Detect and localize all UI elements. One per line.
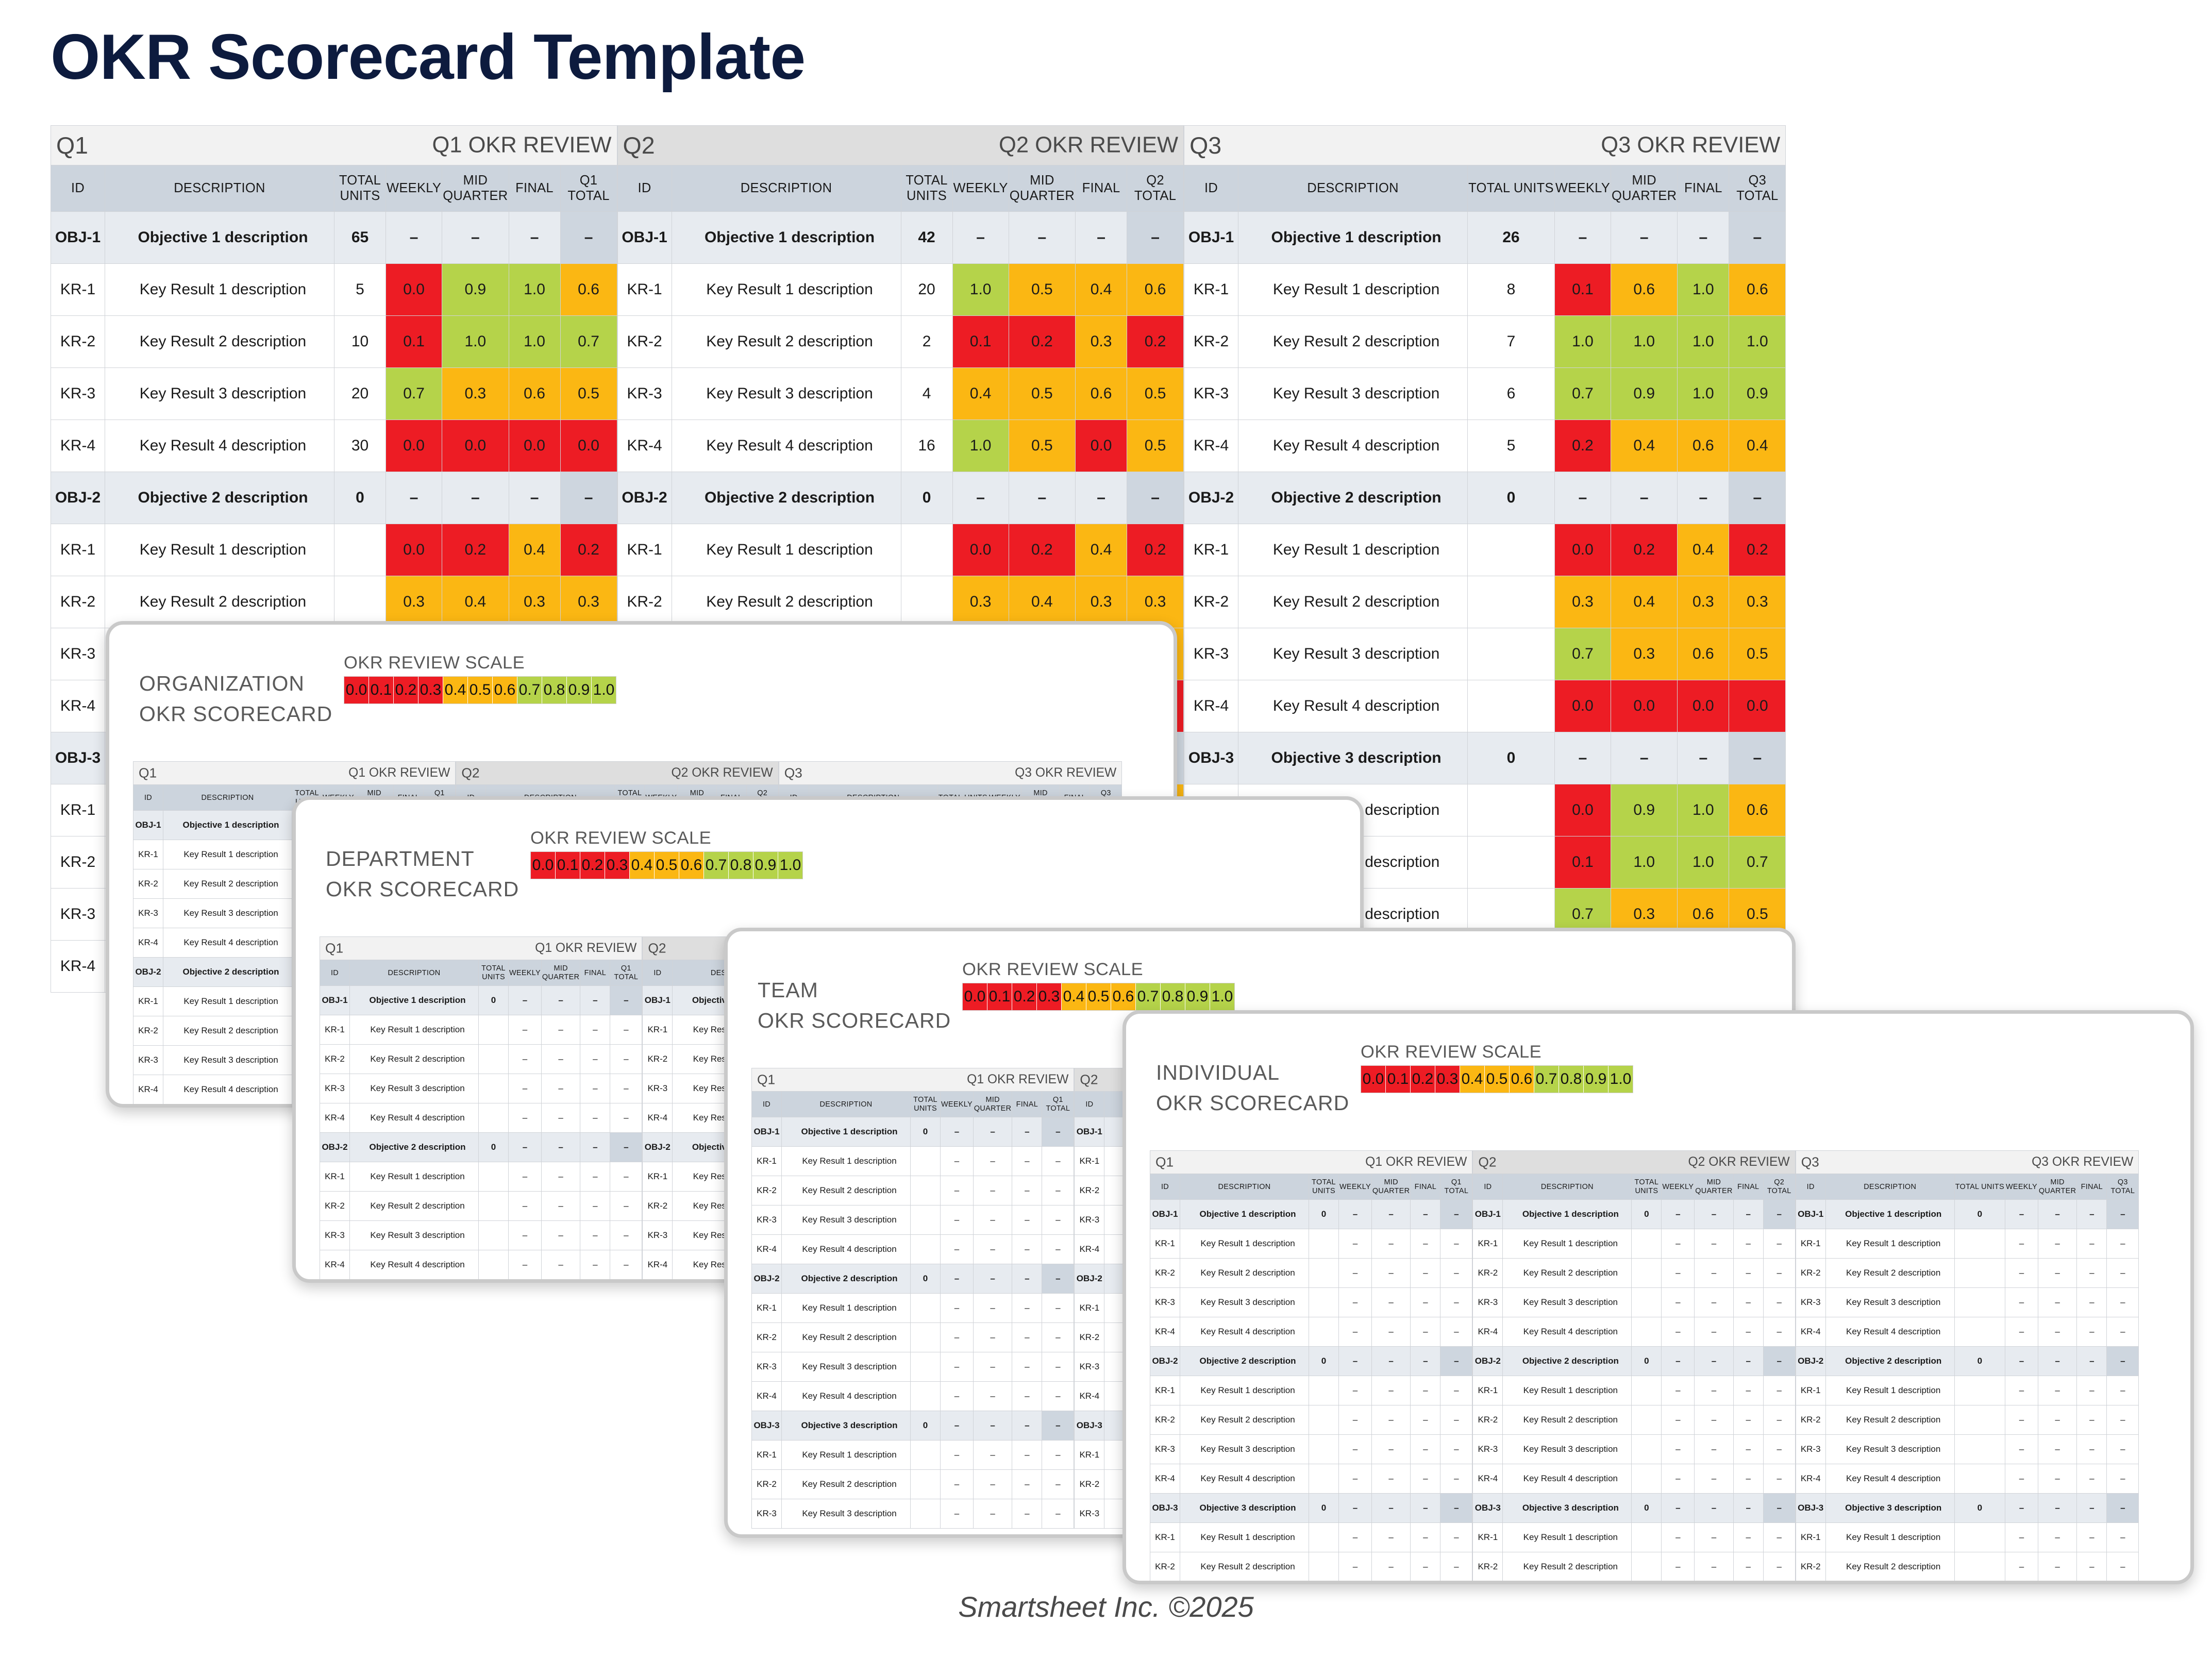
- key-result-row[interactable]: KR-2Key Result 2 description––––: [1473, 1405, 1795, 1435]
- row-mid-quarter-cell[interactable]: –: [973, 1323, 1012, 1352]
- row-weekly-cell[interactable]: –: [509, 1250, 542, 1280]
- row-weekly-cell[interactable]: 0.2: [1554, 420, 1611, 472]
- row-quarter-total-cell[interactable]: 0.2: [1127, 524, 1184, 576]
- row-quarter-total-cell[interactable]: –: [610, 1192, 642, 1221]
- row-weekly-cell[interactable]: –: [1662, 1552, 1695, 1582]
- row-description-cell[interactable]: Key Result 1 description: [1180, 1523, 1309, 1552]
- row-total-units-cell[interactable]: [1954, 1259, 2005, 1288]
- row-total-units-cell[interactable]: [1954, 1288, 2005, 1317]
- row-id-cell[interactable]: KR-2: [1473, 1405, 1503, 1435]
- row-id-cell[interactable]: KR-1: [1796, 1376, 1825, 1405]
- row-weekly-cell[interactable]: –: [1662, 1317, 1695, 1347]
- key-result-row[interactable]: KR-4Key Result 4 description––––: [1473, 1464, 1795, 1494]
- row-weekly-cell[interactable]: –: [2005, 1582, 2038, 1585]
- row-description-cell[interactable]: Key Result 4 description: [163, 928, 292, 958]
- row-mid-quarter-cell[interactable]: –: [541, 1250, 580, 1280]
- row-weekly-cell[interactable]: 0.1: [1554, 264, 1611, 316]
- row-id-cell[interactable]: KR-2: [1150, 1405, 1180, 1435]
- row-final-cell[interactable]: –: [1411, 1259, 1440, 1288]
- row-id-cell[interactable]: KR-1: [1075, 1294, 1104, 1323]
- row-mid-quarter-cell[interactable]: –: [973, 1294, 1012, 1323]
- row-mid-quarter-cell[interactable]: –: [1371, 1229, 1410, 1259]
- row-total-units-cell[interactable]: [1632, 1288, 1662, 1317]
- row-weekly-cell[interactable]: –: [509, 1074, 542, 1103]
- row-description-cell[interactable]: Key Result 1 description: [163, 987, 292, 1016]
- row-description-cell[interactable]: Key Result 3 description: [163, 899, 292, 928]
- key-result-row[interactable]: KR-2Key Result 2 description––––: [1473, 1552, 1795, 1582]
- row-final-cell[interactable]: –: [580, 1103, 610, 1133]
- row-description-cell[interactable]: Key Result 1 description: [105, 264, 334, 316]
- row-id-cell[interactable]: KR-3: [752, 1205, 782, 1235]
- row-id-cell[interactable]: KR-2: [617, 316, 672, 368]
- row-id-cell[interactable]: KR-4: [1075, 1382, 1104, 1411]
- row-id-cell[interactable]: KR-3: [1796, 1435, 1825, 1464]
- row-id-cell[interactable]: KR-3: [1184, 368, 1238, 420]
- row-weekly-cell[interactable]: –: [941, 1205, 974, 1235]
- key-result-row[interactable]: KR-1Key Result 1 description––––: [1150, 1523, 1472, 1552]
- row-id-cell[interactable]: KR-4: [752, 1382, 782, 1411]
- key-result-row[interactable]: KR-1Key Result 1 description––––: [1473, 1376, 1795, 1405]
- row-total-units-cell[interactable]: 10: [334, 316, 386, 368]
- row-mid-quarter-cell[interactable]: –: [2038, 1523, 2076, 1552]
- key-result-row[interactable]: KR-3Key Result 3 description––––: [1796, 1435, 2139, 1464]
- row-weekly-cell[interactable]: –: [2005, 1288, 2038, 1317]
- row-description-cell[interactable]: Key Result 1 description: [1180, 1376, 1309, 1405]
- row-final-cell[interactable]: –: [1411, 1552, 1440, 1582]
- row-final-cell[interactable]: –: [1733, 1464, 1763, 1494]
- row-description-cell[interactable]: Key Result 1 description: [672, 264, 901, 316]
- row-final-cell[interactable]: –: [1012, 1499, 1042, 1529]
- row-final-cell[interactable]: –: [1733, 1405, 1763, 1435]
- objective-row[interactable]: OBJ-3Objective 3 description0––––: [1473, 1494, 1795, 1523]
- row-description-cell[interactable]: Key Result 2 description: [1503, 1405, 1632, 1435]
- row-total-units-cell[interactable]: [1954, 1582, 2005, 1585]
- row-mid-quarter-cell[interactable]: 1.0: [1611, 316, 1678, 368]
- row-description-cell[interactable]: Key Result 3 description: [1503, 1288, 1632, 1317]
- row-id-cell[interactable]: KR-1: [617, 524, 672, 576]
- row-id-cell[interactable]: KR-4: [1184, 420, 1238, 472]
- row-quarter-total-cell[interactable]: –: [1042, 1382, 1074, 1411]
- row-id-cell[interactable]: KR-1: [1075, 1147, 1104, 1176]
- row-weekly-cell[interactable]: 0.1: [1554, 836, 1611, 889]
- row-total-units-cell[interactable]: [479, 1074, 509, 1103]
- row-description-cell[interactable]: Key Result 4 description: [105, 420, 334, 472]
- row-id-cell[interactable]: KR-2: [133, 869, 163, 899]
- row-quarter-total-cell[interactable]: 0.0: [560, 420, 617, 472]
- row-weekly-cell[interactable]: –: [1662, 1435, 1695, 1464]
- row-id-cell[interactable]: KR-4: [1150, 1317, 1180, 1347]
- row-weekly-cell[interactable]: –: [1662, 1376, 1695, 1405]
- row-weekly-cell[interactable]: –: [941, 1441, 974, 1470]
- row-id-cell[interactable]: KR-2: [1075, 1176, 1104, 1205]
- row-id-cell[interactable]: KR-4: [617, 420, 672, 472]
- row-description-cell[interactable]: Key Result 4 description: [1825, 1464, 1954, 1494]
- row-quarter-total-cell[interactable]: 0.6: [560, 264, 617, 316]
- key-result-row[interactable]: KR-2Key Result 2 description––––: [1150, 1405, 1472, 1435]
- row-id-cell[interactable]: KR-2: [1796, 1259, 1825, 1288]
- row-total-units-cell[interactable]: [1954, 1435, 2005, 1464]
- row-final-cell[interactable]: –: [2077, 1464, 2107, 1494]
- row-description-cell[interactable]: Key Result 4 description: [782, 1382, 911, 1411]
- row-final-cell[interactable]: 1.0: [1678, 784, 1729, 836]
- row-final-cell[interactable]: –: [1411, 1523, 1440, 1552]
- row-weekly-cell[interactable]: 1.0: [1554, 316, 1611, 368]
- row-description-cell[interactable]: Key Result 2 description: [350, 1192, 479, 1221]
- row-final-cell[interactable]: 0.6: [1678, 420, 1729, 472]
- row-quarter-total-cell[interactable]: –: [610, 1045, 642, 1074]
- row-description-cell[interactable]: Key Result 2 description: [163, 1016, 292, 1046]
- row-id-cell[interactable]: KR-4: [1473, 1464, 1503, 1494]
- key-result-row[interactable]: KR-4Key Result 4 description––––: [1473, 1317, 1795, 1347]
- key-result-row[interactable]: KR-2Key Result 2 description0.30.40.30.3: [1184, 576, 1786, 628]
- objective-row[interactable]: OBJ-2Objective 2 description0––––: [320, 1133, 642, 1162]
- row-mid-quarter-cell[interactable]: –: [1695, 1288, 1733, 1317]
- row-mid-quarter-cell[interactable]: –: [1371, 1552, 1410, 1582]
- row-final-cell[interactable]: 0.0: [1076, 420, 1127, 472]
- row-quarter-total-cell[interactable]: 0.4: [1729, 420, 1786, 472]
- row-total-units-cell[interactable]: [1309, 1523, 1339, 1552]
- row-quarter-total-cell[interactable]: –: [1440, 1552, 1472, 1582]
- row-mid-quarter-cell[interactable]: –: [973, 1470, 1012, 1499]
- key-result-row[interactable]: KR-2Key Result 2 description––––: [320, 1045, 642, 1074]
- row-final-cell[interactable]: –: [1411, 1317, 1440, 1347]
- row-id-cell[interactable]: KR-4: [51, 941, 105, 993]
- key-result-row[interactable]: KR-4Key Result 4 description––––: [1796, 1464, 2139, 1494]
- row-quarter-total-cell[interactable]: –: [1763, 1259, 1795, 1288]
- key-result-row[interactable]: KR-2Key Result 2 description––––: [752, 1176, 1074, 1205]
- row-final-cell[interactable]: –: [580, 1192, 610, 1221]
- row-id-cell[interactable]: KR-2: [51, 576, 105, 628]
- row-description-cell[interactable]: Key Result 3 description: [163, 1046, 292, 1075]
- key-result-row[interactable]: KR-4Key Result 4 description––––: [752, 1235, 1074, 1264]
- row-total-units-cell[interactable]: [1954, 1229, 2005, 1259]
- key-result-row[interactable]: KR-4Key Result 4 description300.00.00.00…: [51, 420, 617, 472]
- row-weekly-cell[interactable]: –: [1662, 1464, 1695, 1494]
- row-description-cell[interactable]: Key Result 1 description: [1825, 1229, 1954, 1259]
- row-description-cell[interactable]: Key Result 3 description: [350, 1074, 479, 1103]
- row-final-cell[interactable]: –: [1411, 1464, 1440, 1494]
- row-id-cell[interactable]: KR-4: [133, 1075, 163, 1104]
- row-final-cell[interactable]: –: [1411, 1582, 1440, 1585]
- row-quarter-total-cell[interactable]: –: [1763, 1288, 1795, 1317]
- key-result-row[interactable]: KR-4Key Result 4 description0.00.00.00.0: [1184, 680, 1786, 732]
- key-result-row[interactable]: KR-2Key Result 2 description––––: [752, 1470, 1074, 1499]
- row-id-cell[interactable]: KR-1: [752, 1147, 782, 1176]
- key-result-row[interactable]: KR-3Key Result 3 description200.70.30.60…: [51, 368, 617, 420]
- row-quarter-total-cell[interactable]: 0.6: [1127, 264, 1184, 316]
- key-result-row[interactable]: KR-3Key Result 3 description––––: [1796, 1288, 2139, 1317]
- row-description-cell[interactable]: Key Result 4 description: [1503, 1317, 1632, 1347]
- row-mid-quarter-cell[interactable]: 0.4: [1611, 576, 1678, 628]
- row-quarter-total-cell[interactable]: –: [1763, 1405, 1795, 1435]
- row-id-cell[interactable]: KR-2: [320, 1045, 350, 1074]
- key-result-row[interactable]: KR-2Key Result 2 description––––: [1473, 1259, 1795, 1288]
- row-quarter-total-cell[interactable]: 0.6: [1729, 264, 1786, 316]
- row-mid-quarter-cell[interactable]: –: [973, 1176, 1012, 1205]
- row-description-cell[interactable]: Key Result 4 description: [163, 1075, 292, 1104]
- row-id-cell[interactable]: KR-3: [752, 1352, 782, 1382]
- row-id-cell[interactable]: KR-4: [643, 1250, 673, 1280]
- key-result-row[interactable]: KR-1Key Result 1 description––––: [752, 1294, 1074, 1323]
- row-final-cell[interactable]: –: [1012, 1441, 1042, 1470]
- row-total-units-cell[interactable]: [334, 576, 386, 628]
- row-quarter-total-cell[interactable]: –: [1440, 1582, 1472, 1585]
- row-final-cell[interactable]: –: [1411, 1435, 1440, 1464]
- row-description-cell[interactable]: Key Result 1 description: [1825, 1376, 1954, 1405]
- row-weekly-cell[interactable]: 0.3: [952, 576, 1009, 628]
- row-final-cell[interactable]: –: [1012, 1176, 1042, 1205]
- key-result-row[interactable]: KR-3Key Result 3 description––––: [752, 1499, 1074, 1529]
- row-quarter-total-cell[interactable]: 0.2: [560, 524, 617, 576]
- row-id-cell[interactable]: KR-1: [1796, 1229, 1825, 1259]
- objective-row[interactable]: OBJ-2Objective 2 description0––––: [1796, 1347, 2139, 1376]
- row-weekly-cell[interactable]: 0.0: [386, 524, 442, 576]
- row-id-cell[interactable]: KR-3: [1184, 628, 1238, 680]
- row-weekly-cell[interactable]: 0.0: [386, 420, 442, 472]
- row-description-cell[interactable]: Key Result 3 description: [672, 368, 901, 420]
- row-mid-quarter-cell[interactable]: –: [541, 1074, 580, 1103]
- row-id-cell[interactable]: KR-2: [1796, 1405, 1825, 1435]
- row-weekly-cell[interactable]: 0.3: [1554, 576, 1611, 628]
- row-total-units-cell[interactable]: 5: [334, 264, 386, 316]
- row-weekly-cell[interactable]: 1.0: [952, 420, 1009, 472]
- row-final-cell[interactable]: 1.0: [1678, 264, 1729, 316]
- row-final-cell[interactable]: –: [2077, 1552, 2107, 1582]
- row-final-cell[interactable]: 1.0: [1678, 316, 1729, 368]
- row-total-units-cell[interactable]: [911, 1294, 941, 1323]
- row-mid-quarter-cell[interactable]: –: [1371, 1405, 1410, 1435]
- row-description-cell[interactable]: Key Result 2 description: [1180, 1405, 1309, 1435]
- key-result-row[interactable]: KR-1Key Result 1 description––––: [1796, 1229, 2139, 1259]
- row-total-units-cell[interactable]: [1309, 1464, 1339, 1494]
- row-final-cell[interactable]: 0.4: [1678, 524, 1729, 576]
- row-weekly-cell[interactable]: 0.0: [1554, 524, 1611, 576]
- row-quarter-total-cell[interactable]: –: [1042, 1147, 1074, 1176]
- row-final-cell[interactable]: 1.0: [1678, 836, 1729, 889]
- row-quarter-total-cell[interactable]: –: [1763, 1552, 1795, 1582]
- row-mid-quarter-cell[interactable]: –: [1695, 1405, 1733, 1435]
- row-total-units-cell[interactable]: [1954, 1376, 2005, 1405]
- row-quarter-total-cell[interactable]: –: [2107, 1523, 2139, 1552]
- row-id-cell[interactable]: KR-4: [1796, 1317, 1825, 1347]
- row-id-cell[interactable]: KR-1: [1796, 1523, 1825, 1552]
- row-final-cell[interactable]: –: [1012, 1205, 1042, 1235]
- row-final-cell[interactable]: –: [2077, 1288, 2107, 1317]
- row-final-cell[interactable]: –: [1012, 1352, 1042, 1382]
- objective-row[interactable]: OBJ-1Objective 1 description65––––: [51, 212, 617, 264]
- row-description-cell[interactable]: Key Result 1 description: [1503, 1229, 1632, 1259]
- row-total-units-cell[interactable]: [1632, 1376, 1662, 1405]
- row-total-units-cell[interactable]: [1309, 1288, 1339, 1317]
- row-total-units-cell[interactable]: 16: [901, 420, 952, 472]
- row-weekly-cell[interactable]: –: [1339, 1229, 1372, 1259]
- row-total-units-cell[interactable]: 8: [1468, 264, 1555, 316]
- row-weekly-cell[interactable]: –: [1339, 1582, 1372, 1585]
- row-weekly-cell[interactable]: 0.1: [952, 316, 1009, 368]
- row-id-cell[interactable]: KR-1: [133, 987, 163, 1016]
- row-total-units-cell[interactable]: [901, 524, 952, 576]
- objective-row[interactable]: OBJ-3Objective 3 description0––––: [1184, 732, 1786, 784]
- row-description-cell[interactable]: Key Result 2 description: [1238, 576, 1468, 628]
- row-final-cell[interactable]: 0.0: [509, 420, 560, 472]
- row-final-cell[interactable]: 0.6: [509, 368, 560, 420]
- row-id-cell[interactable]: KR-3: [320, 1221, 350, 1250]
- row-description-cell[interactable]: Key Result 3 description: [1503, 1435, 1632, 1464]
- row-total-units-cell[interactable]: 4: [901, 368, 952, 420]
- row-total-units-cell[interactable]: [479, 1015, 509, 1045]
- row-id-cell[interactable]: KR-3: [1796, 1288, 1825, 1317]
- row-id-cell[interactable]: KR-2: [1150, 1259, 1180, 1288]
- key-result-row[interactable]: KR-2Key Result 2 description20.10.20.30.…: [617, 316, 1184, 368]
- row-mid-quarter-cell[interactable]: 0.5: [1009, 264, 1075, 316]
- row-id-cell[interactable]: KR-4: [51, 680, 105, 732]
- row-final-cell[interactable]: –: [1012, 1382, 1042, 1411]
- row-quarter-total-cell[interactable]: –: [1763, 1464, 1795, 1494]
- row-quarter-total-cell[interactable]: –: [1763, 1229, 1795, 1259]
- row-description-cell[interactable]: Key Result 2 description: [1825, 1552, 1954, 1582]
- row-weekly-cell[interactable]: –: [1662, 1523, 1695, 1552]
- row-description-cell[interactable]: Key Result 2 description: [105, 316, 334, 368]
- row-quarter-total-cell[interactable]: –: [2107, 1582, 2139, 1585]
- row-total-units-cell[interactable]: [911, 1441, 941, 1470]
- row-final-cell[interactable]: 0.4: [1076, 264, 1127, 316]
- row-description-cell[interactable]: Key Result 2 description: [782, 1176, 911, 1205]
- row-total-units-cell[interactable]: [911, 1323, 941, 1352]
- row-id-cell[interactable]: KR-2: [643, 1192, 673, 1221]
- row-id-cell[interactable]: KR-4: [320, 1103, 350, 1133]
- objective-row[interactable]: OBJ-3Objective 3 description0––––: [1150, 1494, 1472, 1523]
- card-individual-okr-scorecard[interactable]: INDIVIDUALOKR SCORECARDOKR REVIEW SCALE0…: [1122, 1010, 2194, 1584]
- row-final-cell[interactable]: –: [580, 1162, 610, 1192]
- row-id-cell[interactable]: KR-3: [320, 1074, 350, 1103]
- row-weekly-cell[interactable]: –: [1662, 1582, 1695, 1585]
- row-quarter-total-cell[interactable]: –: [1763, 1523, 1795, 1552]
- row-id-cell[interactable]: KR-2: [1075, 1470, 1104, 1499]
- row-quarter-total-cell[interactable]: –: [2107, 1435, 2139, 1464]
- row-description-cell[interactable]: Key Result 3 description: [1180, 1435, 1309, 1464]
- row-mid-quarter-cell[interactable]: 0.5: [1009, 368, 1075, 420]
- row-id-cell[interactable]: KR-4: [752, 1235, 782, 1264]
- objective-row[interactable]: OBJ-1Objective 1 description26––––: [1184, 212, 1786, 264]
- row-mid-quarter-cell[interactable]: –: [1371, 1582, 1410, 1585]
- row-total-units-cell[interactable]: [1468, 576, 1555, 628]
- row-final-cell[interactable]: 1.0: [509, 316, 560, 368]
- row-mid-quarter-cell[interactable]: –: [1371, 1288, 1410, 1317]
- row-final-cell[interactable]: –: [580, 1045, 610, 1074]
- row-mid-quarter-cell[interactable]: –: [2038, 1464, 2076, 1494]
- row-mid-quarter-cell[interactable]: –: [2038, 1435, 2076, 1464]
- row-id-cell[interactable]: KR-2: [752, 1323, 782, 1352]
- row-quarter-total-cell[interactable]: –: [1440, 1229, 1472, 1259]
- row-quarter-total-cell[interactable]: –: [1763, 1317, 1795, 1347]
- row-id-cell[interactable]: KR-1: [1150, 1229, 1180, 1259]
- row-quarter-total-cell[interactable]: 0.7: [1729, 836, 1786, 889]
- row-weekly-cell[interactable]: –: [509, 1045, 542, 1074]
- row-description-cell[interactable]: Key Result 3 description: [1825, 1582, 1954, 1585]
- row-mid-quarter-cell[interactable]: 0.0: [1611, 680, 1678, 732]
- row-mid-quarter-cell[interactable]: 0.9: [442, 264, 509, 316]
- row-description-cell[interactable]: Key Result 4 description: [350, 1250, 479, 1280]
- row-final-cell[interactable]: –: [2077, 1259, 2107, 1288]
- key-result-row[interactable]: KR-2Key Result 2 description0.30.40.30.3: [617, 576, 1184, 628]
- row-mid-quarter-cell[interactable]: –: [2038, 1376, 2076, 1405]
- row-quarter-total-cell[interactable]: –: [2107, 1464, 2139, 1494]
- key-result-row[interactable]: KR-3Key Result 3 description––––: [320, 1074, 642, 1103]
- row-mid-quarter-cell[interactable]: –: [973, 1382, 1012, 1411]
- row-total-units-cell[interactable]: [1309, 1317, 1339, 1347]
- row-id-cell[interactable]: KR-1: [643, 1162, 673, 1192]
- row-total-units-cell[interactable]: [1632, 1229, 1662, 1259]
- row-id-cell[interactable]: KR-2: [1796, 1552, 1825, 1582]
- row-final-cell[interactable]: –: [1012, 1147, 1042, 1176]
- row-final-cell[interactable]: –: [1733, 1317, 1763, 1347]
- row-weekly-cell[interactable]: –: [2005, 1523, 2038, 1552]
- key-result-row[interactable]: KR-2Key Result 2 description100.11.01.00…: [51, 316, 617, 368]
- row-id-cell[interactable]: KR-1: [643, 1015, 673, 1045]
- row-total-units-cell[interactable]: [479, 1221, 509, 1250]
- row-total-units-cell[interactable]: [1632, 1259, 1662, 1288]
- row-final-cell[interactable]: –: [1012, 1235, 1042, 1264]
- key-result-row[interactable]: KR-3Key Result 3 description––––: [1473, 1582, 1795, 1585]
- row-total-units-cell[interactable]: [479, 1250, 509, 1280]
- row-mid-quarter-cell[interactable]: –: [2038, 1405, 2076, 1435]
- row-weekly-cell[interactable]: –: [1339, 1259, 1372, 1288]
- row-id-cell[interactable]: KR-2: [752, 1176, 782, 1205]
- row-id-cell[interactable]: KR-4: [51, 420, 105, 472]
- row-quarter-total-cell[interactable]: –: [1440, 1376, 1472, 1405]
- row-mid-quarter-cell[interactable]: –: [1371, 1523, 1410, 1552]
- row-mid-quarter-cell[interactable]: 0.2: [1611, 524, 1678, 576]
- key-result-row[interactable]: KR-1Key Result 1 description0.00.20.40.2: [617, 524, 1184, 576]
- row-description-cell[interactable]: Key Result 1 description: [105, 524, 334, 576]
- row-id-cell[interactable]: KR-1: [1184, 264, 1238, 316]
- row-id-cell[interactable]: KR-1: [320, 1162, 350, 1192]
- row-final-cell[interactable]: –: [1411, 1288, 1440, 1317]
- row-final-cell[interactable]: –: [1733, 1229, 1763, 1259]
- row-total-units-cell[interactable]: [911, 1235, 941, 1264]
- key-result-row[interactable]: KR-1Key Result 1 description––––: [752, 1147, 1074, 1176]
- key-result-row[interactable]: KR-1Key Result 1 description––––: [1473, 1229, 1795, 1259]
- row-description-cell[interactable]: Key Result 4 description: [1180, 1464, 1309, 1494]
- row-description-cell[interactable]: Key Result 1 description: [350, 1015, 479, 1045]
- row-mid-quarter-cell[interactable]: –: [1695, 1376, 1733, 1405]
- objective-row[interactable]: OBJ-2Objective 2 description0––––: [1184, 472, 1786, 524]
- row-final-cell[interactable]: 0.6: [1076, 368, 1127, 420]
- row-total-units-cell[interactable]: 6: [1468, 368, 1555, 420]
- row-description-cell[interactable]: Key Result 3 description: [782, 1352, 911, 1382]
- key-result-row[interactable]: KR-4Key Result 4 description50.20.40.60.…: [1184, 420, 1786, 472]
- row-mid-quarter-cell[interactable]: –: [2038, 1259, 2076, 1288]
- row-id-cell[interactable]: KR-2: [643, 1045, 673, 1074]
- objective-row[interactable]: OBJ-3Objective 3 description0––––: [1796, 1494, 2139, 1523]
- row-description-cell[interactable]: Key Result 4 description: [782, 1235, 911, 1264]
- key-result-row[interactable]: KR-1Key Result 1 description––––: [320, 1015, 642, 1045]
- row-id-cell[interactable]: KR-3: [133, 1046, 163, 1075]
- row-id-cell[interactable]: KR-3: [51, 368, 105, 420]
- row-final-cell[interactable]: 0.3: [1076, 316, 1127, 368]
- row-quarter-total-cell[interactable]: 0.5: [1127, 368, 1184, 420]
- row-quarter-total-cell[interactable]: –: [1763, 1435, 1795, 1464]
- row-weekly-cell[interactable]: –: [2005, 1229, 2038, 1259]
- row-id-cell[interactable]: KR-2: [51, 316, 105, 368]
- row-weekly-cell[interactable]: 0.7: [1554, 628, 1611, 680]
- row-final-cell[interactable]: –: [2077, 1376, 2107, 1405]
- row-id-cell[interactable]: KR-4: [1184, 680, 1238, 732]
- row-quarter-total-cell[interactable]: –: [2107, 1288, 2139, 1317]
- row-mid-quarter-cell[interactable]: 0.2: [1009, 524, 1075, 576]
- key-result-row[interactable]: KR-2Key Result 2 description––––: [1150, 1259, 1472, 1288]
- row-id-cell[interactable]: KR-1: [617, 264, 672, 316]
